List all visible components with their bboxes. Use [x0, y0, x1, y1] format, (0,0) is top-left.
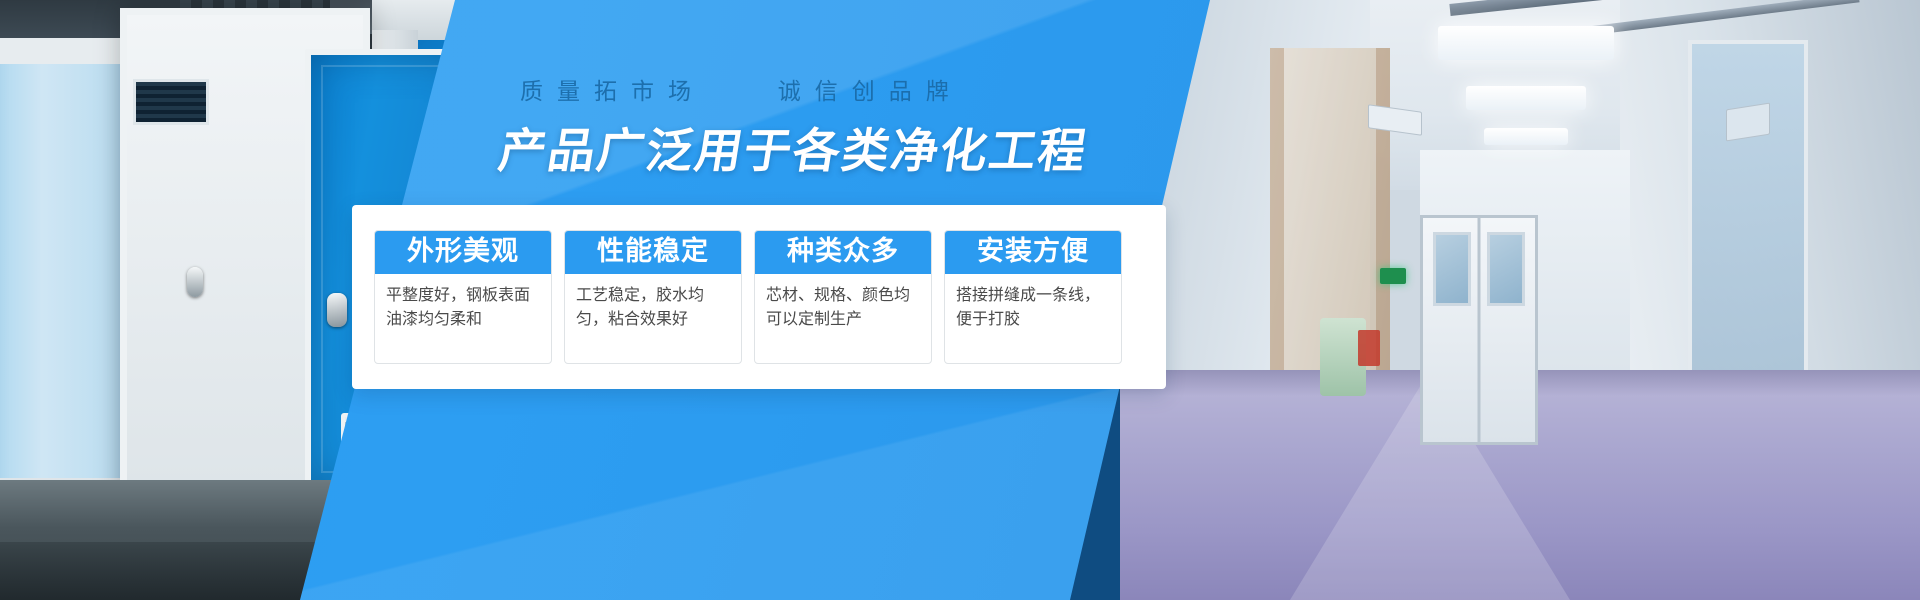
feature-card-body: 平整度好，钢板表面油漆均匀柔和 [375, 274, 551, 332]
cleanroom-double-door [1420, 215, 1538, 445]
cabin-unit-main [120, 8, 370, 520]
feature-card[interactable]: 性能稳定 工艺稳定，胶水均匀，粘合效果好 [564, 230, 742, 364]
feature-card[interactable]: 安装方便 搭接拼缝成一条线，便于打胶 [944, 230, 1122, 364]
cabin-upper-vent [133, 79, 209, 125]
tagline-right-text: 诚信创品牌 [778, 78, 963, 104]
feature-card-title: 安装方便 [944, 230, 1122, 274]
fire-extinguisher-box [1358, 330, 1380, 366]
tagline-left-text: 质量拓市场 [520, 78, 705, 104]
feature-card-body: 搭接拼缝成一条线，便于打胶 [945, 274, 1121, 332]
ceiling-light-panel-1 [1438, 26, 1614, 60]
exit-sign-icon [1380, 268, 1406, 284]
feature-card-title: 种类众多 [754, 230, 932, 274]
banner-tagline: 质量拓市场 诚信创品牌 [520, 72, 1140, 106]
ceiling-light-panel-2 [1466, 86, 1586, 110]
door-window-right [1487, 232, 1525, 306]
banner-headline: 产品广泛用于各类净化工程 [495, 112, 1146, 181]
door-window-left [1433, 232, 1471, 306]
feature-card-body: 芯材、规格、颜色均可以定制生产 [755, 274, 931, 332]
feature-card-title: 性能稳定 [564, 230, 742, 274]
ceiling-light-panel-3 [1484, 128, 1568, 145]
cabin-left-top-strip [0, 38, 126, 64]
cabin-door-handle [327, 293, 347, 327]
cabin-unit-left [0, 38, 131, 508]
right-cleanroom-photo [1120, 0, 1920, 600]
feature-card[interactable]: 种类众多 芯材、规格、颜色均可以定制生产 [754, 230, 932, 364]
feature-card[interactable]: 外形美观 平整度好，钢板表面油漆均匀柔和 [374, 230, 552, 364]
feature-card-title: 外形美观 [374, 230, 552, 274]
feature-card-strip: 外形美观 平整度好，钢板表面油漆均匀柔和 性能稳定 工艺稳定，胶水均匀，粘合效果… [352, 205, 1166, 389]
banner-root: 质量拓市场 诚信创品牌 产品广泛用于各类净化工程 外形美观 平整度好，钢板表面油… [0, 0, 1920, 600]
feature-card-body: 工艺稳定，胶水均匀，粘合效果好 [565, 274, 741, 332]
cabin-lock-left [187, 267, 203, 297]
